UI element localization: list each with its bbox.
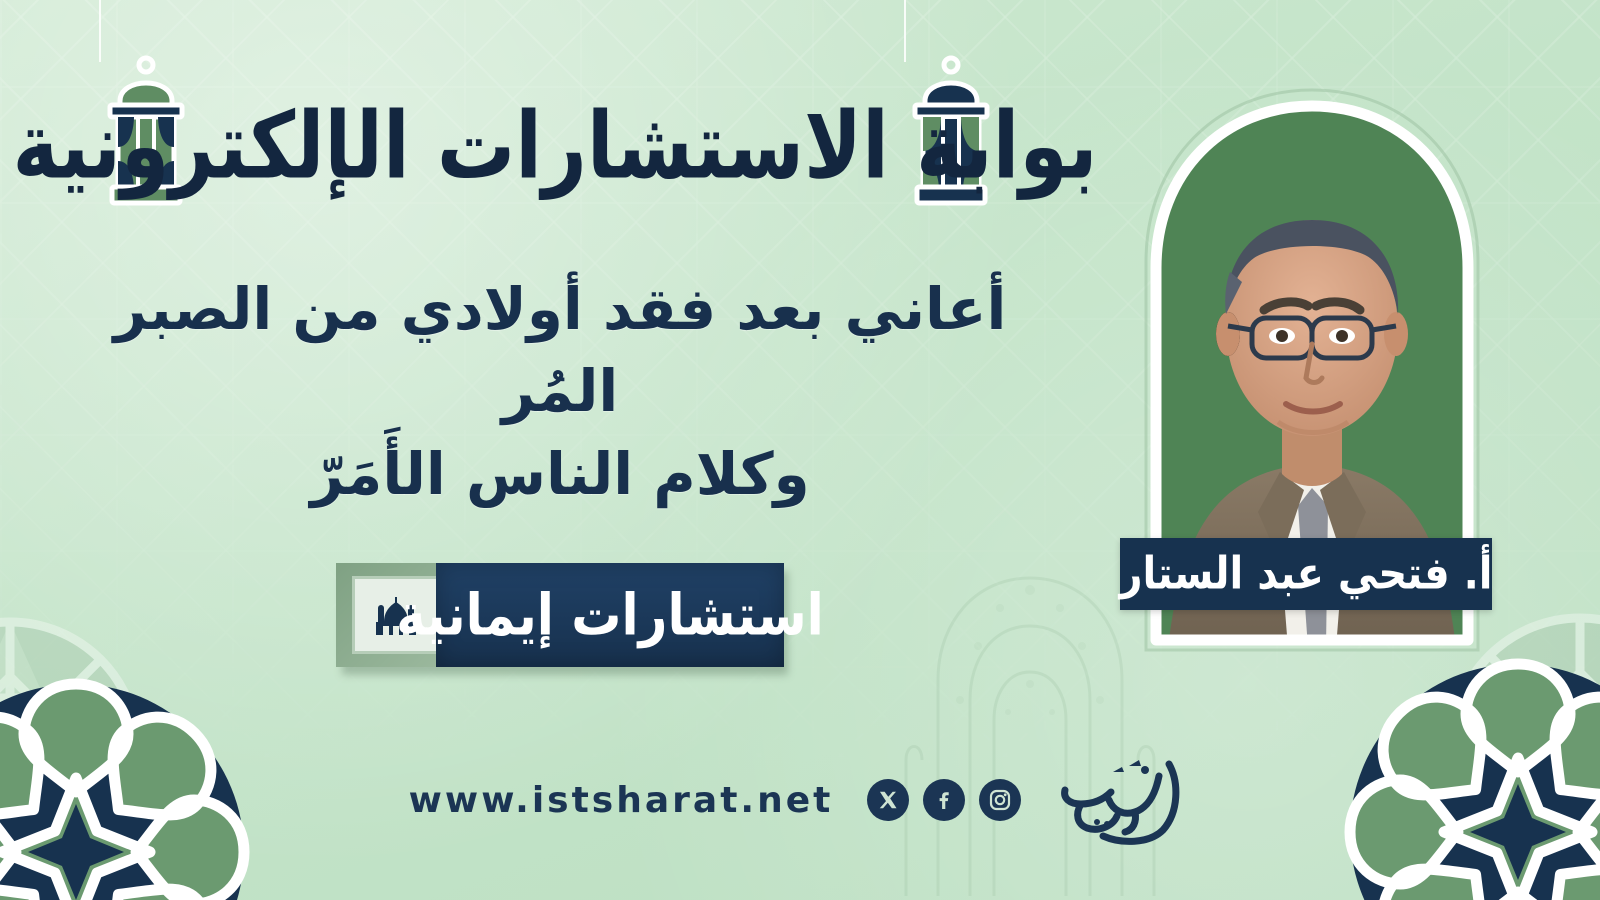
brand-calligraphy: بوابة الاستشارات الإلكترونية bbox=[190, 62, 920, 232]
promo-card: بوابة الاستشارات الإلكترونية أعاني بعد ف… bbox=[0, 0, 1600, 900]
portrait-name-text: أ. فتحي عبد الستار bbox=[1119, 552, 1492, 597]
x-icon[interactable] bbox=[867, 779, 909, 821]
headline: أعاني بعد فقد أولادي من الصبر المُر وكلا… bbox=[70, 268, 1050, 515]
footer: المجتمع bbox=[0, 746, 1600, 854]
facebook-icon[interactable] bbox=[923, 779, 965, 821]
brand-calligraphy-text: بوابة الاستشارات الإلكترونية bbox=[12, 101, 1097, 193]
lantern-cord bbox=[904, 0, 906, 62]
lantern-cord bbox=[99, 0, 101, 62]
site-url[interactable]: www.istsharat.net bbox=[409, 780, 834, 821]
category-badge[interactable]: استشارات إيمانية bbox=[336, 563, 788, 675]
magazine-logo: المجتمع bbox=[1051, 752, 1191, 848]
headline-line-2: وكلام الناس الأَمَرّ bbox=[70, 433, 1050, 515]
social-links bbox=[867, 779, 1021, 821]
badge-label: استشارات إيمانية bbox=[396, 586, 824, 644]
instagram-icon[interactable] bbox=[979, 779, 1021, 821]
headline-line-1: أعاني بعد فقد أولادي من الصبر المُر bbox=[114, 275, 1007, 425]
portrait-name-plate: أ. فتحي عبد الستار bbox=[1120, 538, 1492, 610]
badge-plate: استشارات إيمانية bbox=[436, 563, 784, 667]
